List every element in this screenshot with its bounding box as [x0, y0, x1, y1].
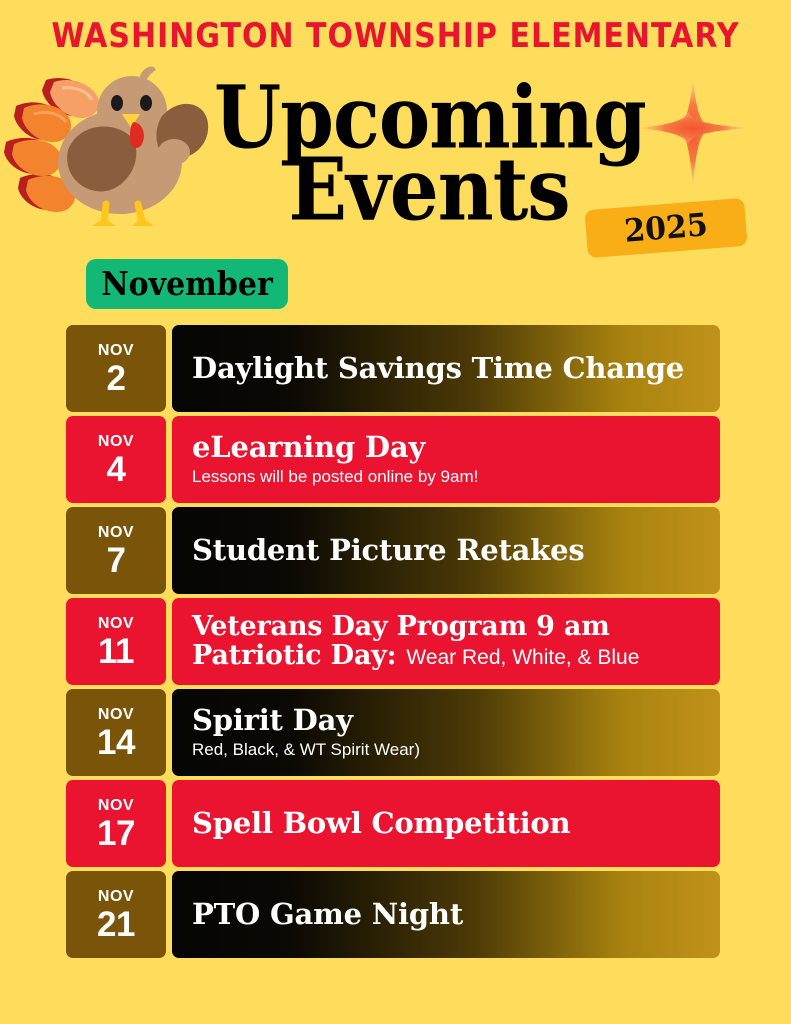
event-flyer-poster: Washington Township Elementary	[0, 0, 791, 1024]
event-title: eLearning Day	[192, 432, 720, 463]
event-title-secondary-label: Patriotic Day:	[192, 640, 396, 671]
event-month-label: NOV	[98, 707, 134, 723]
event-date-box: NOV7	[66, 507, 166, 594]
event-day-number: 11	[98, 634, 134, 669]
event-day-number: 7	[107, 543, 126, 578]
event-content-box: Spirit DayRed, Black, & WT Spirit Wear)	[172, 689, 720, 776]
event-content-box: PTO Game Night	[172, 871, 720, 958]
event-month-label: NOV	[98, 525, 134, 541]
event-subtitle: Lessons will be posted online by 9am!	[192, 466, 720, 487]
event-date-box: NOV11	[66, 598, 166, 685]
event-content-box: eLearning DayLessons will be posted onli…	[172, 416, 720, 503]
event-content-box: Veterans Day Program 9 amPatriotic Day:W…	[172, 598, 720, 685]
event-month-label: NOV	[98, 434, 134, 450]
event-title: Spirit Day	[192, 705, 720, 736]
event-content-box: Daylight Savings Time Change	[172, 325, 720, 412]
event-title: Student Picture Retakes	[192, 535, 720, 566]
event-content-box: Spell Bowl Competition	[172, 780, 720, 867]
event-title: Daylight Savings Time Change	[192, 353, 720, 384]
event-date-box: NOV14	[66, 689, 166, 776]
event-title: Veterans Day Program 9 am	[192, 613, 720, 642]
event-month-label: NOV	[98, 343, 134, 359]
school-name-heading: Washington Township Elementary	[0, 20, 791, 54]
page-title-line-2: Events	[214, 151, 644, 231]
event-day-number: 4	[107, 452, 126, 487]
event-row[interactable]: NOV7Student Picture Retakes	[66, 507, 720, 594]
event-row[interactable]: NOV2Daylight Savings Time Change	[66, 325, 720, 412]
event-content-box: Student Picture Retakes	[172, 507, 720, 594]
event-date-box: NOV17	[66, 780, 166, 867]
event-date-box: NOV21	[66, 871, 166, 958]
event-day-number: 17	[97, 816, 135, 851]
page-title: Upcoming Events	[214, 88, 644, 231]
event-date-box: NOV4	[66, 416, 166, 503]
event-title-secondary: Patriotic Day:Wear Red, White, & Blue	[192, 642, 720, 671]
event-day-number: 21	[97, 907, 135, 942]
event-date-box: NOV2	[66, 325, 166, 412]
month-badge-label: November	[101, 265, 273, 303]
event-list: NOV2Daylight Savings Time ChangeNOV4eLea…	[66, 325, 720, 962]
month-badge: November	[86, 259, 288, 309]
event-row[interactable]: NOV11Veterans Day Program 9 amPatriotic …	[66, 598, 720, 685]
event-inline-subtitle: Wear Red, White, & Blue	[396, 646, 639, 669]
event-row[interactable]: NOV21PTO Game Night	[66, 871, 720, 958]
turkey-illustration	[0, 58, 226, 226]
event-month-label: NOV	[98, 889, 134, 905]
year-badge-label: 2025	[623, 206, 709, 249]
event-title: PTO Game Night	[192, 899, 720, 930]
event-subtitle: Red, Black, & WT Spirit Wear)	[192, 739, 720, 760]
event-month-label: NOV	[98, 798, 134, 814]
event-month-label: NOV	[98, 616, 134, 632]
event-day-number: 14	[97, 725, 135, 760]
event-row[interactable]: NOV14Spirit DayRed, Black, & WT Spirit W…	[66, 689, 720, 776]
event-row[interactable]: NOV17Spell Bowl Competition	[66, 780, 720, 867]
four-point-sparkle-icon	[638, 78, 748, 188]
event-day-number: 2	[107, 361, 126, 396]
event-row[interactable]: NOV4eLearning DayLessons will be posted …	[66, 416, 720, 503]
event-title: Spell Bowl Competition	[192, 808, 720, 839]
